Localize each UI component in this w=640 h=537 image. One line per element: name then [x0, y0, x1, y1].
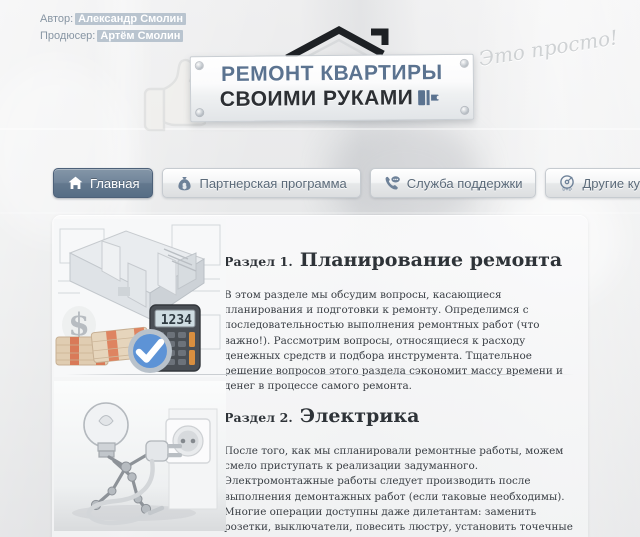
producer-label: Продюсер: [40, 30, 95, 42]
main-navigation: Главная $ Партнерская программа [53, 168, 640, 198]
nav-item-partner-program[interactable]: $ Партнерская программа [162, 168, 360, 198]
nav-item-label: Главная [90, 176, 139, 191]
section-number: Раздел 1. [224, 254, 293, 269]
nav-item-label: Служба поддержки [407, 176, 523, 191]
section-title: Раздел 1.Планирование ремонта [224, 243, 574, 272]
page-background: Автор:Александр Смолин Продюсер:Артём См… [0, 0, 640, 537]
section-number: Раздел 2. [224, 410, 293, 425]
lightbulb-robot-socket-image [54, 381, 226, 531]
paintbrush-icon [418, 88, 444, 107]
author-row: Автор:Александр Смолин [40, 12, 186, 27]
section-name: Электрика [300, 405, 420, 427]
content-panel: $ [52, 215, 588, 537]
background-line [0, 212, 640, 214]
dvd-icon: DVD [559, 175, 575, 191]
site-title-sign: РЕМОНТ КВАРТИРЫ СВОИМИ РУКАМИ [190, 54, 475, 122]
floorplan-money-calculator-image: $ [54, 219, 226, 377]
moneybag-icon: $ [176, 175, 192, 191]
author-name: Александр Смолин [75, 13, 186, 25]
nav-item-label: Партнерская программа [199, 176, 346, 191]
author-credits: Автор:Александр Смолин Продюсер:Артём См… [40, 12, 186, 46]
sign-line-2-wrap: СВОИМИ РУКАМИ [191, 85, 473, 112]
producer-row: Продюсер:Артём Смолин [40, 29, 186, 44]
section-electrics: Раздел 2.Электрика После того, как мы сп… [52, 375, 588, 537]
section-text: После того, как мы спланировали ремонтны… [224, 444, 574, 537]
section-image-wrapper [52, 375, 224, 537]
author-label: Автор: [40, 13, 73, 25]
section-body: Раздел 1.Планирование ремонта В этом раз… [224, 215, 588, 375]
nav-item-support[interactable]: Служба поддержки [370, 168, 537, 198]
section-planning: $ [52, 215, 588, 375]
phone-chat-icon [384, 175, 400, 191]
section-body: Раздел 2.Электрика После того, как мы сп… [224, 375, 588, 537]
svg-text:1234: 1234 [161, 313, 192, 328]
sign-line-2: СВОИМИ РУКАМИ [220, 85, 414, 112]
home-icon [67, 175, 83, 191]
producer-name: Артём Смолин [97, 30, 183, 42]
nav-item-home[interactable]: Главная [53, 168, 153, 198]
sign-line-1: РЕМОНТ КВАРТИРЫ [191, 60, 473, 87]
section-image-wrapper: $ [52, 215, 224, 375]
section-name: Планирование ремонта [300, 249, 562, 271]
nav-item-label: Другие курсы [582, 176, 640, 191]
nav-item-other-courses[interactable]: DVD Другие курсы [545, 168, 640, 198]
background-line [0, 128, 640, 130]
svg-text:DVD: DVD [563, 186, 572, 191]
section-title: Раздел 2.Электрика [224, 399, 574, 428]
tagline: Это просто! [477, 25, 620, 71]
